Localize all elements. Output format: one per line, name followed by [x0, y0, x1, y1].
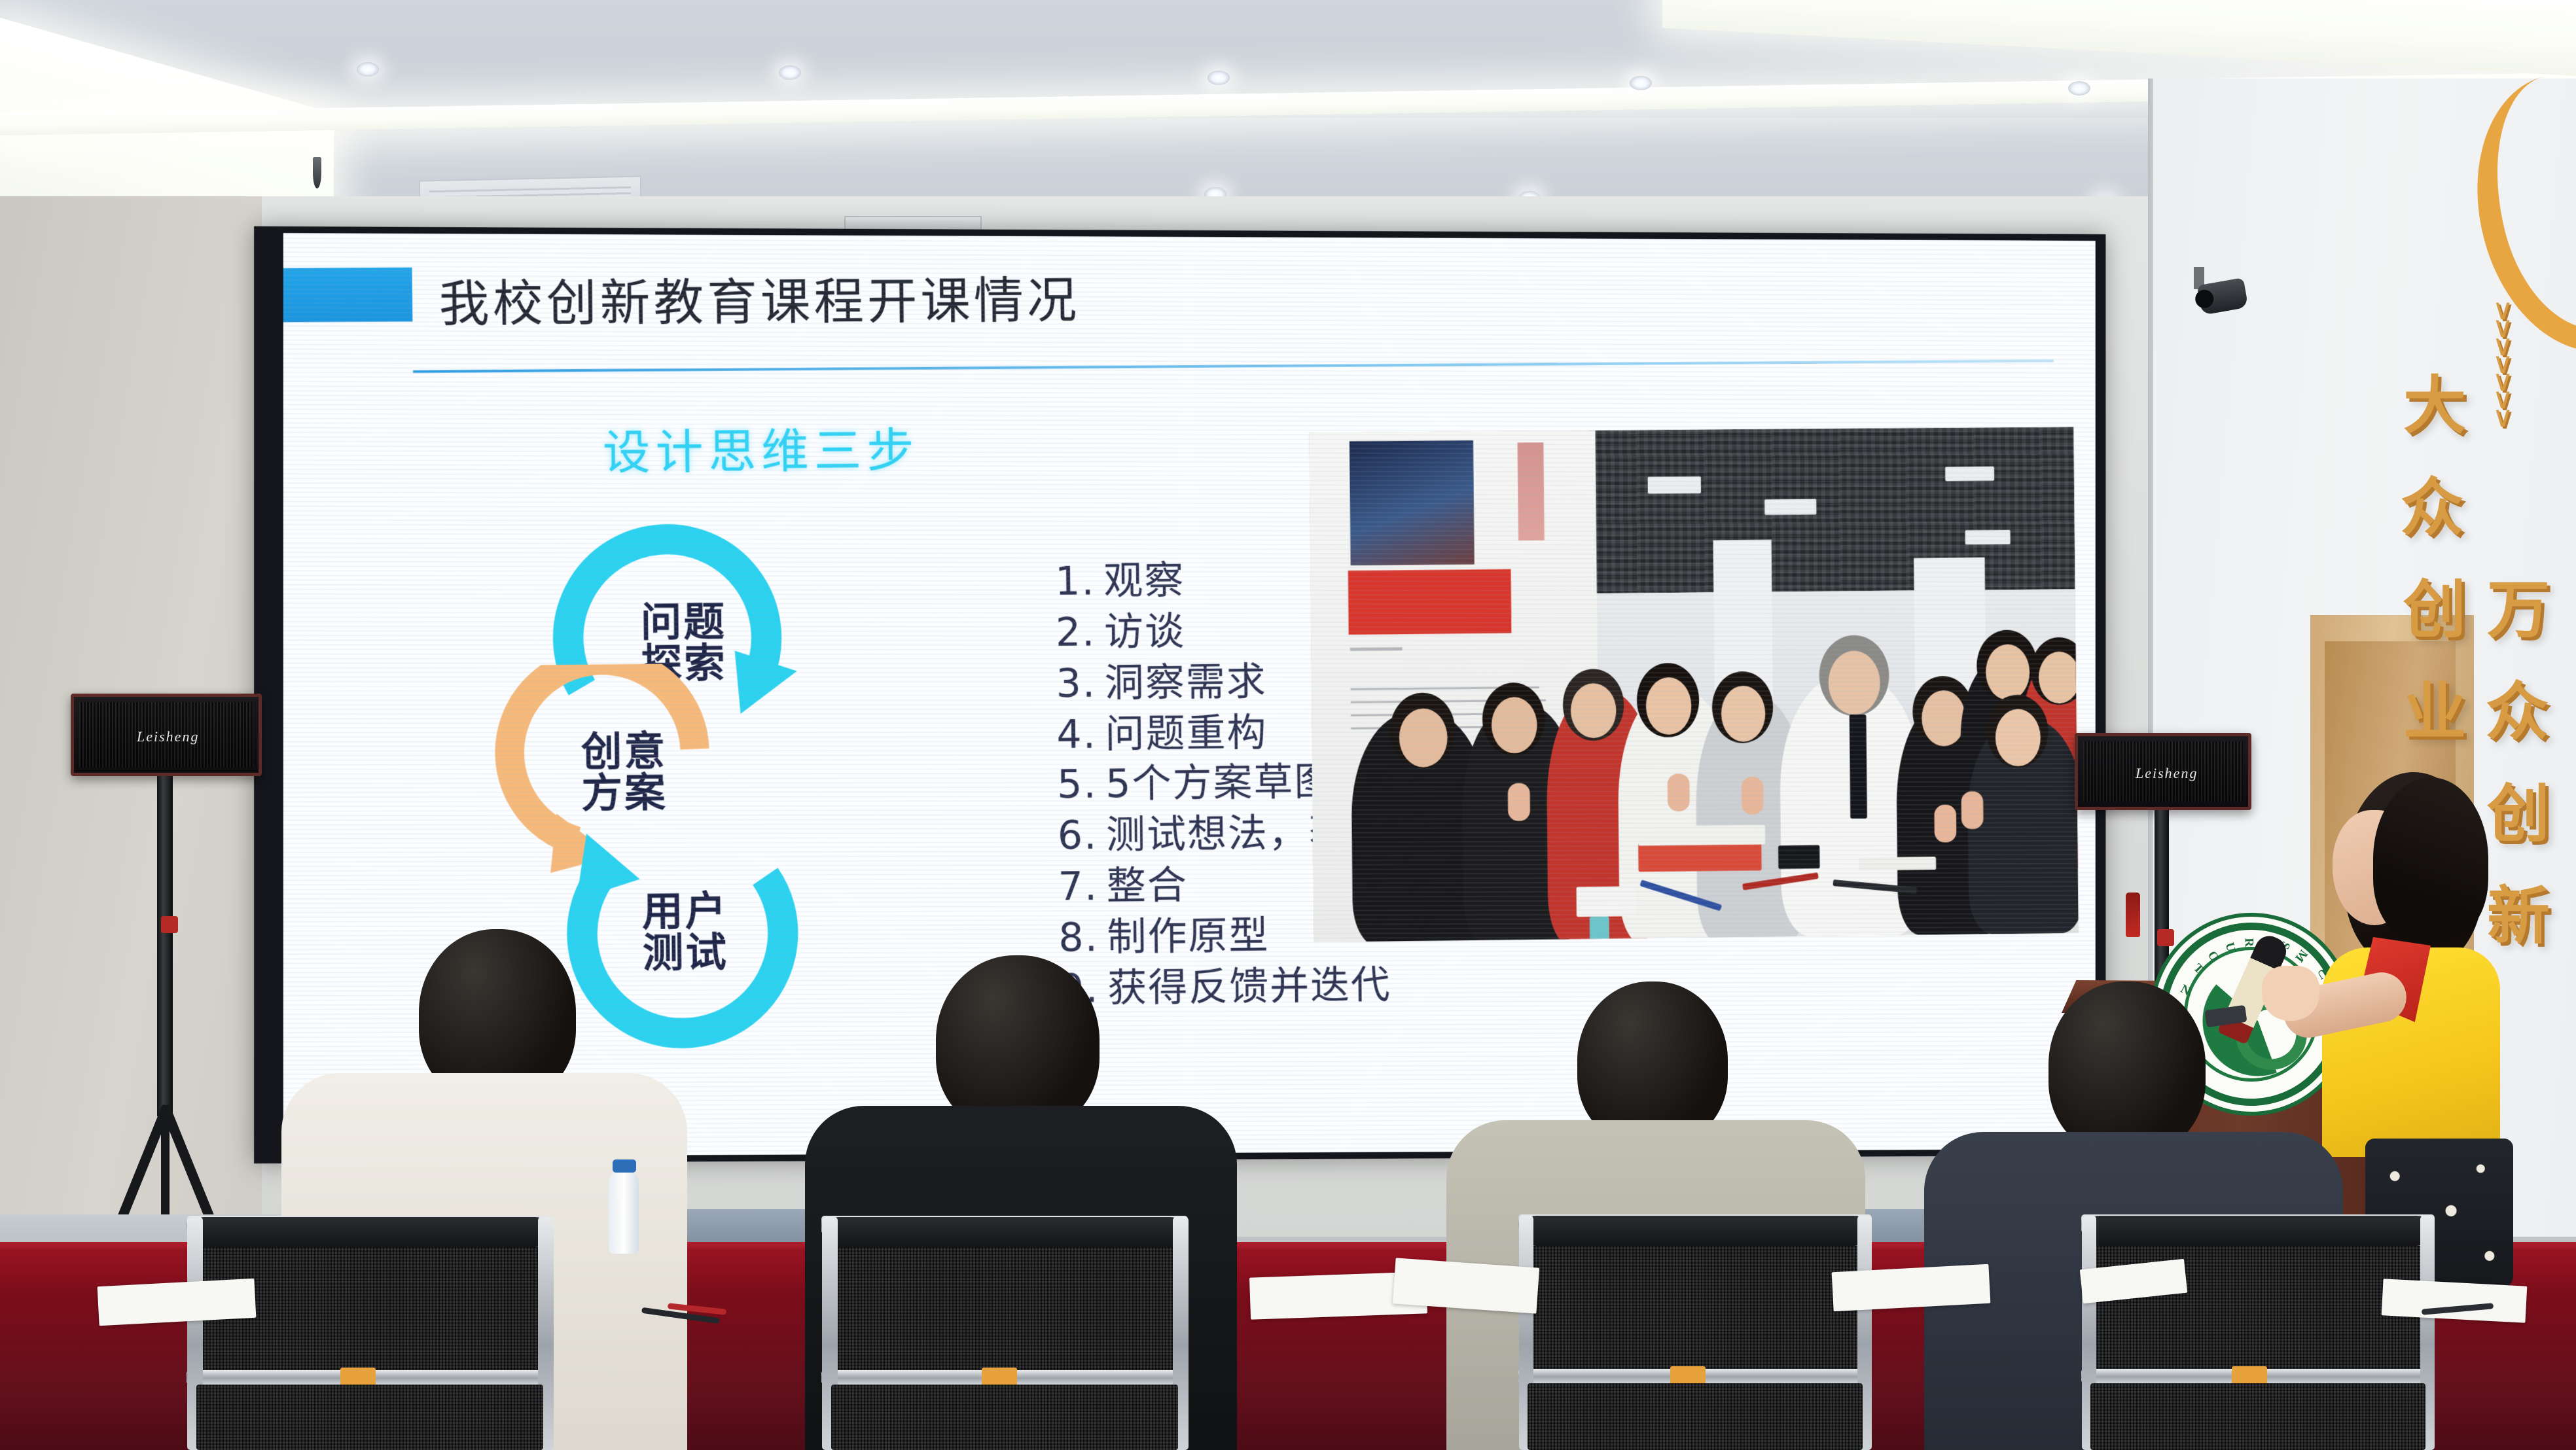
steps-list-explore: 1.观察 2.访谈 3.洞察需求 4.问题重构 — [1055, 554, 1268, 760]
wall-char-zhong2: 众 — [2486, 681, 2549, 743]
downlight-icon — [357, 62, 379, 77]
wall-char-chuang: 创 — [2403, 578, 2466, 641]
wall-char-wan: 万 — [2487, 578, 2550, 641]
room-scene: ∨∨∨∨∨∨∨ 大 众 创 业 万 众 创 新 MASS ENTREPRENEU… — [0, 0, 2576, 1450]
water-bottle — [609, 1171, 639, 1254]
pa-brand-label: Leisheng — [2136, 765, 2198, 782]
bottle-cap — [613, 1159, 636, 1173]
downlight-icon — [1630, 76, 1652, 90]
cove-light-right — [1662, 0, 2576, 77]
downlight-icon — [2068, 81, 2090, 96]
downlight-icon — [1207, 71, 1230, 85]
chevron-down-icon: ∨∨∨∨∨∨∨ — [2492, 301, 2513, 426]
title-divider — [413, 359, 2054, 372]
wall-char-ye: 业 — [2403, 681, 2466, 743]
paper-sheet — [98, 1279, 257, 1326]
wall-char-da: 大 — [2403, 374, 2466, 437]
slide-subtitle: 设计思维三步 — [602, 412, 920, 483]
sprinkler-icon — [313, 157, 321, 188]
pa-brand-label: Leisheng — [137, 728, 199, 745]
wall-char-zhong: 众 — [2401, 476, 2463, 539]
slide-title: 我校创新教育课程开课情况 — [438, 260, 1081, 336]
fire-extinguisher-icon — [2126, 893, 2140, 937]
cycle-label-3: 用户 测试 — [609, 890, 761, 975]
paper-sheet — [2382, 1279, 2528, 1322]
title-accent-block — [283, 268, 413, 323]
downlight-icon — [779, 65, 801, 80]
slide-group-photo — [1309, 427, 2079, 942]
paper-sheet — [1832, 1264, 1991, 1311]
